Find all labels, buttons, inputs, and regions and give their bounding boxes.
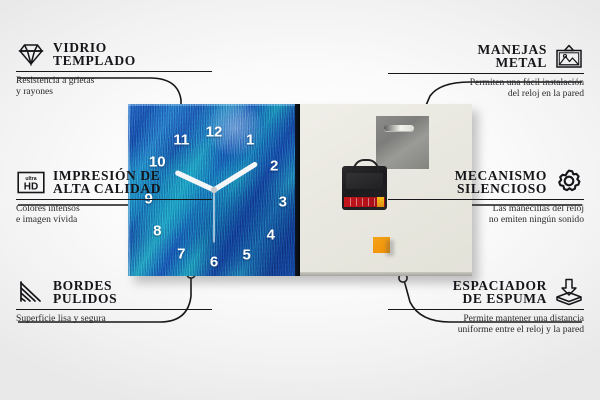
feature-espaciador-espuma: ESPACIADOR DE ESPUMA Permite mantener un… <box>388 278 584 336</box>
feature-mecanismo-silencioso: MECANISMO SILENCIOSO Las manecillas del … <box>388 168 584 226</box>
foam-spacer-icon <box>554 278 584 306</box>
feature-vidrio-templado: VIDRIO TEMPLADO Resistencia a grietas y … <box>16 40 212 98</box>
diamond-icon <box>16 40 46 68</box>
feature-divider <box>388 309 584 310</box>
feature-divider <box>388 73 584 74</box>
feature-title: ESPACIADOR DE ESPUMA <box>453 279 547 306</box>
movement-battery-marker <box>377 197 384 207</box>
feature-description: Permite mantener una distancia uniforme … <box>388 313 584 336</box>
feature-title: MANEJAS METAL <box>478 43 547 70</box>
infographic-canvas: 12 1 2 3 4 5 6 7 8 9 10 11 <box>0 0 600 400</box>
feature-title: IMPRESIÓN DE ALTA CALIDAD <box>53 169 161 196</box>
metal-hanger-plate <box>376 116 429 169</box>
feature-divider <box>16 71 212 72</box>
feature-description: Superficie lisa y segura <box>16 313 212 324</box>
feature-title: MECANISMO SILENCIOSO <box>455 169 547 196</box>
feature-divider <box>388 199 584 200</box>
feature-divider <box>16 309 212 310</box>
feature-description: Resistencia a grietas y rayones <box>16 75 212 98</box>
feature-title: VIDRIO TEMPLADO <box>53 41 136 68</box>
feature-divider <box>16 199 212 200</box>
foam-spacer-pad <box>373 237 390 253</box>
feature-impresion-alta-calidad: ultra HD IMPRESIÓN DE ALTA CALIDAD Color… <box>16 168 212 226</box>
feature-title: BORDES PULIDOS <box>53 279 117 306</box>
feature-description: Colores intensos e imagen vívida <box>16 203 212 226</box>
svg-text:HD: HD <box>24 181 38 192</box>
quartz-movement-box <box>342 166 387 210</box>
movement-panel <box>346 173 383 189</box>
feature-description: Permiten una fácil instalación del reloj… <box>388 77 584 100</box>
feature-bordes-pulidos: BORDES PULIDOS Superficie lisa y segura <box>16 278 212 324</box>
hanger-keyhole-slot <box>384 125 414 131</box>
ultra-hd-icon: ultra HD <box>16 168 46 196</box>
back-bottom-edge <box>300 272 472 276</box>
feature-manejas-metal: MANEJAS METAL Permiten una fácil instala… <box>388 42 584 100</box>
feature-description: Las manecillas del reloj no emiten ningú… <box>388 203 584 226</box>
movement-hanger-loop <box>353 159 379 172</box>
beveled-edge-icon <box>16 278 46 306</box>
gear-icon <box>554 168 584 196</box>
picture-frame-icon <box>554 42 584 70</box>
